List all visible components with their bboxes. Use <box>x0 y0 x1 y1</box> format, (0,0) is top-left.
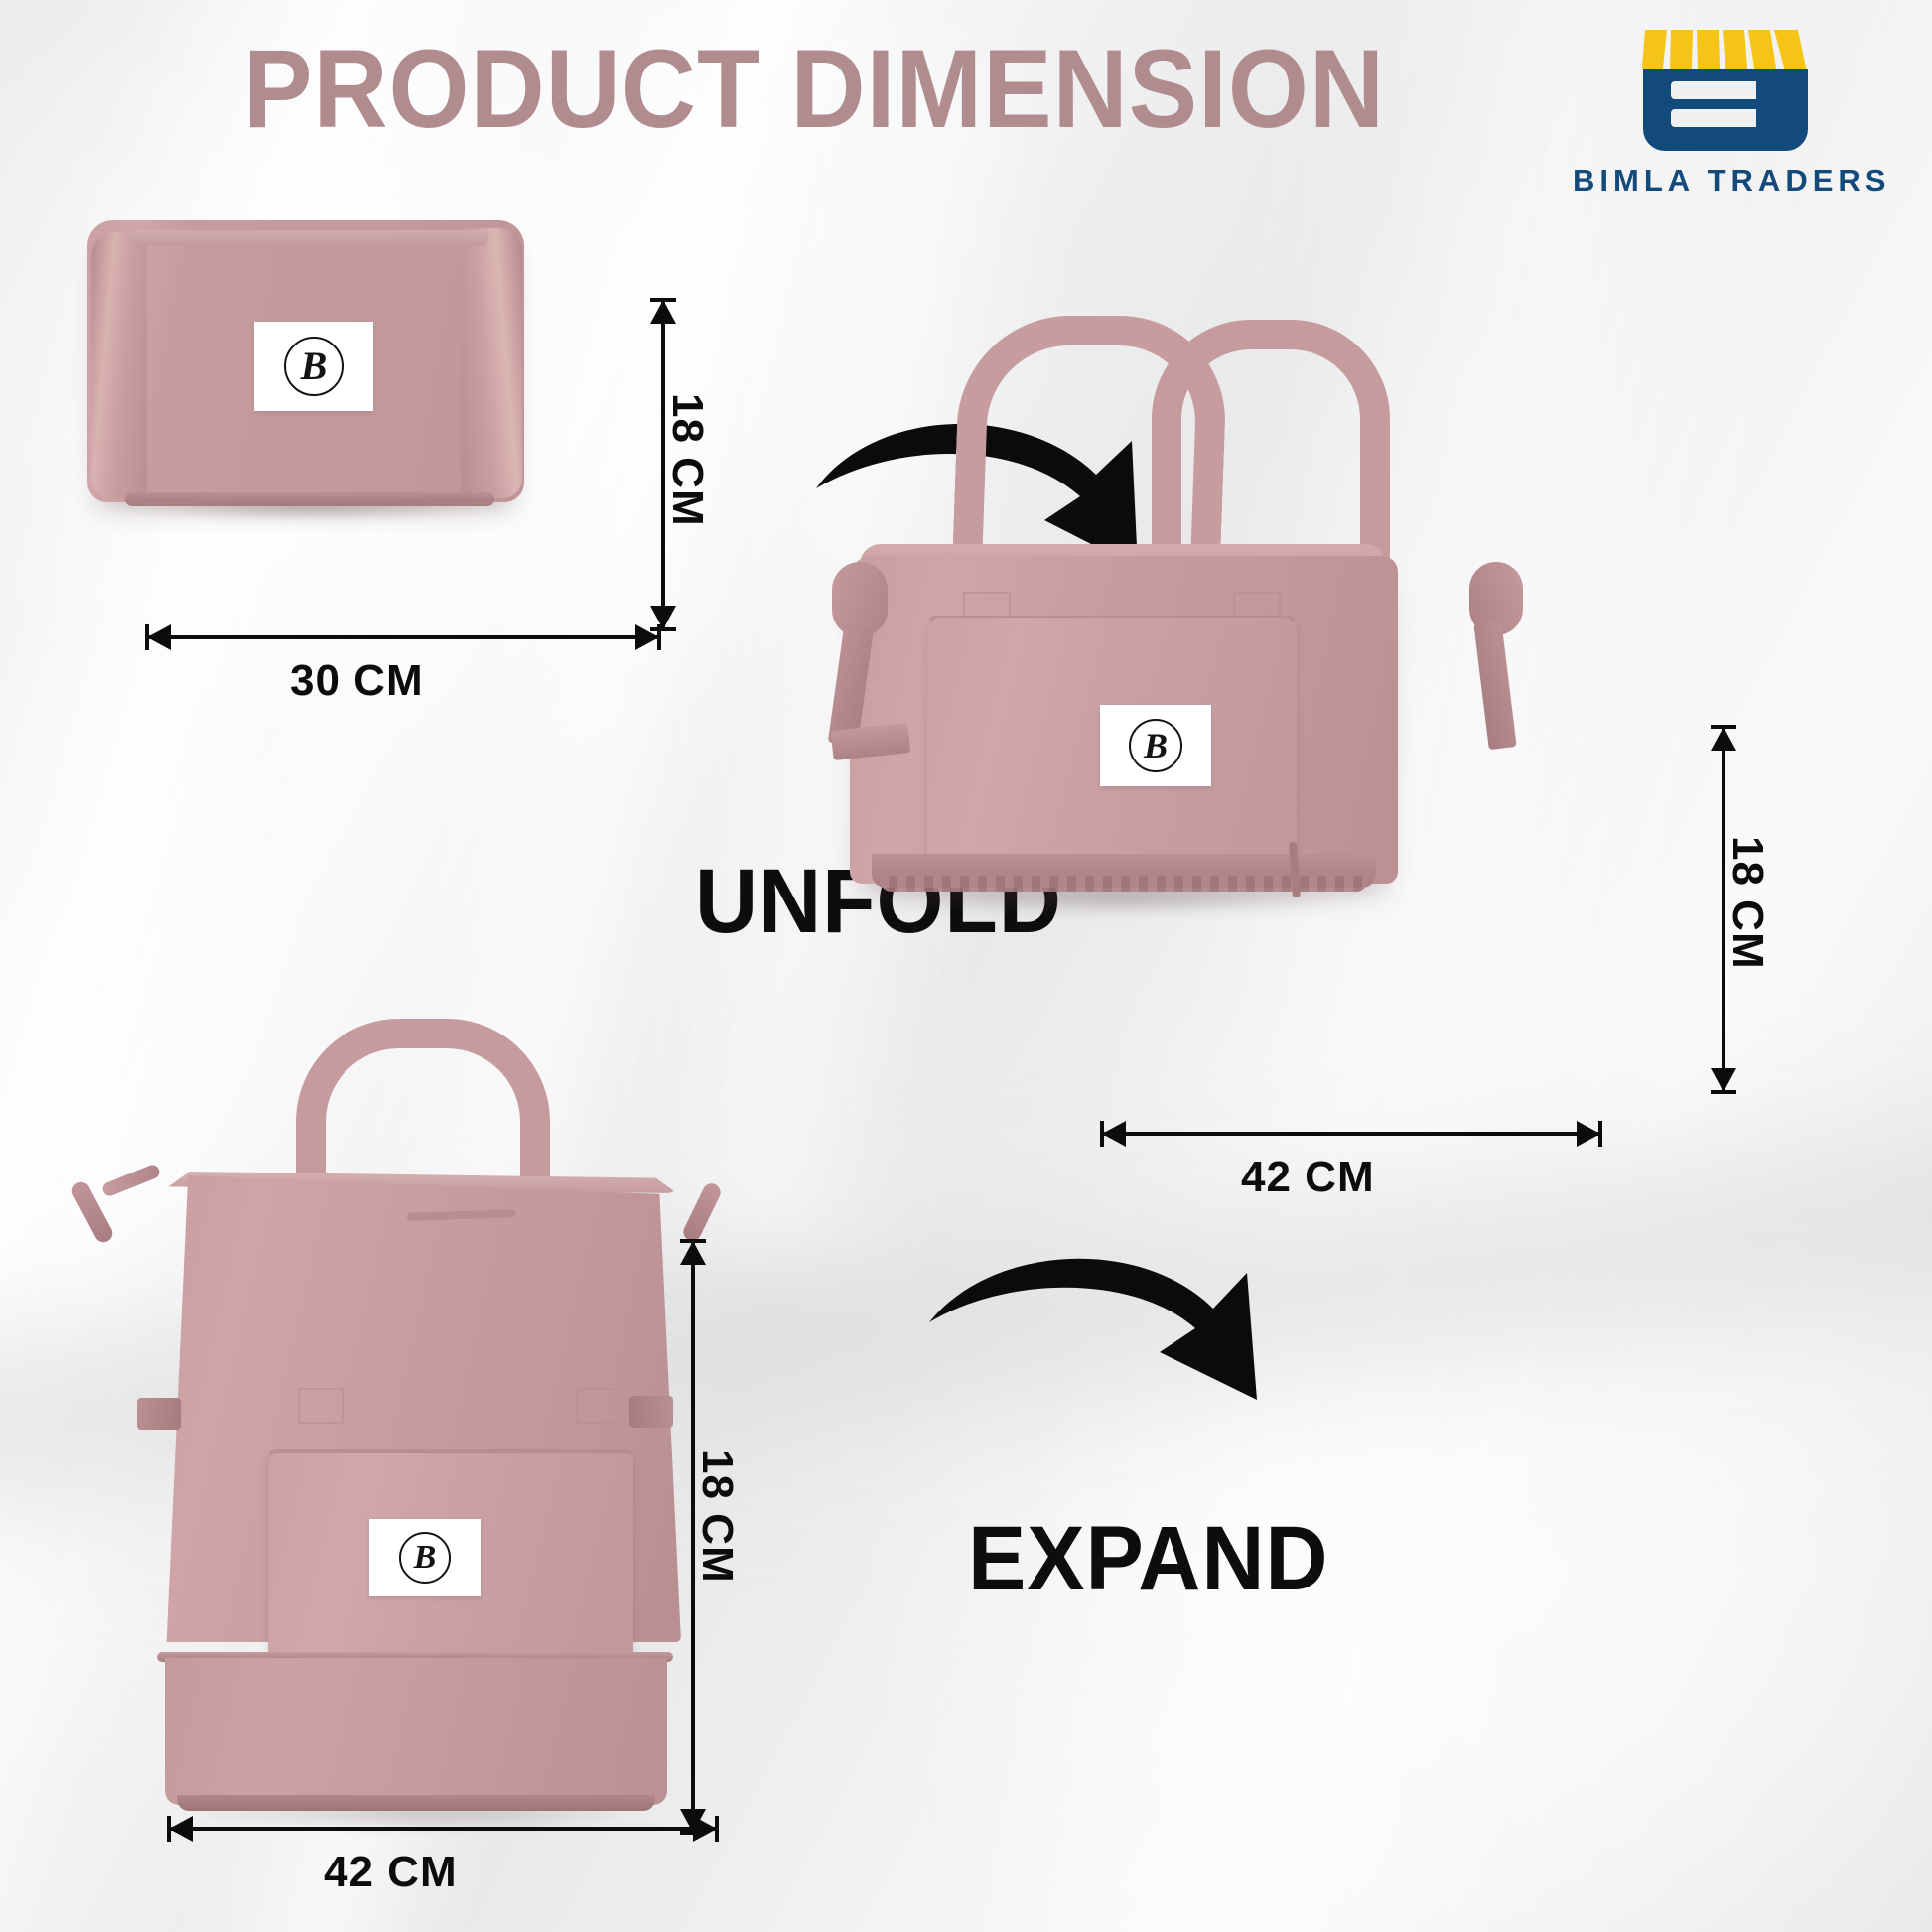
tote-strap-stitch-right <box>576 1388 621 1424</box>
dimension-folded-width: 30 CM <box>145 635 661 705</box>
dim-cap-right <box>715 1816 719 1842</box>
page-title: PRODUCT DIMENSION <box>57 34 1571 145</box>
tote-base-strip <box>177 1795 655 1811</box>
brand-tag: B <box>369 1519 481 1596</box>
tote-zipper-tape-left <box>101 1163 162 1197</box>
infographic-canvas: PRODUCT DIMENSION BIMLA TRADERS <box>0 0 1932 1932</box>
dim-cap-right <box>1598 1121 1602 1147</box>
brand-tag-ring <box>1129 719 1182 772</box>
dimension-value-unfolded-height: 18 CM <box>1725 836 1769 970</box>
dim-arrow-right <box>1577 1121 1600 1147</box>
dimension-expanded-height: 18 CM <box>691 1239 751 1835</box>
dimension-value-expanded-width: 42 CM <box>324 1851 458 1894</box>
brand-tag-ring <box>399 1532 451 1584</box>
storefront-icon <box>1627 18 1816 157</box>
product-image-expanded-tote: B <box>62 1013 717 1827</box>
tote-zipper-pull-right <box>680 1180 723 1244</box>
dim-cap-right <box>657 624 661 650</box>
brand-name: BIMLA TRADERS <box>1573 163 1870 199</box>
dimension-expanded-width: 42 CM <box>167 1827 719 1896</box>
dimension-value-folded-width: 30 CM <box>290 659 424 703</box>
brand-tag-ring <box>284 337 344 396</box>
dim-arrow-right <box>693 1816 717 1842</box>
dimension-value-expanded-height: 18 CM <box>695 1449 739 1584</box>
dim-line <box>149 635 657 639</box>
pouch-right-edge <box>461 228 522 498</box>
product-image-unfolded-duffel: B <box>824 298 1519 1092</box>
tote-side-tab-right <box>629 1396 673 1428</box>
tote-strap-stitch-left <box>298 1388 344 1424</box>
dim-line <box>1104 1132 1598 1136</box>
product-image-folded-pouch: B <box>87 220 524 508</box>
dim-cap-bottom <box>1711 1090 1736 1094</box>
brand-tag: B <box>254 322 373 411</box>
pouch-left-edge <box>91 232 147 498</box>
dimension-value-folded-height: 18 CM <box>665 393 709 527</box>
pouch-bottom-seam <box>125 492 494 506</box>
brand-tag: B <box>1100 705 1211 786</box>
dimension-unfolded-height: 18 CM <box>1722 725 1781 1094</box>
dim-arrow-bottom <box>1711 1068 1736 1092</box>
tote-side-tab-left <box>137 1398 181 1430</box>
pouch-top-seam <box>129 230 488 246</box>
curved-arrow-left-down-icon <box>923 1231 1291 1420</box>
dimension-unfolded-width: 42 CM <box>1100 1132 1602 1201</box>
brand-logo: BIMLA TRADERS <box>1573 18 1870 199</box>
dim-line <box>171 1827 715 1831</box>
dimension-folded-height: 18 CM <box>661 298 721 631</box>
step-label-expand: EXPAND <box>968 1513 1328 1604</box>
dim-arrow-right <box>635 624 659 650</box>
dimension-value-unfolded-width: 42 CM <box>1241 1156 1375 1199</box>
tote-expansion-panel <box>165 1658 667 1805</box>
duffel-side-strap-right <box>1473 621 1516 750</box>
